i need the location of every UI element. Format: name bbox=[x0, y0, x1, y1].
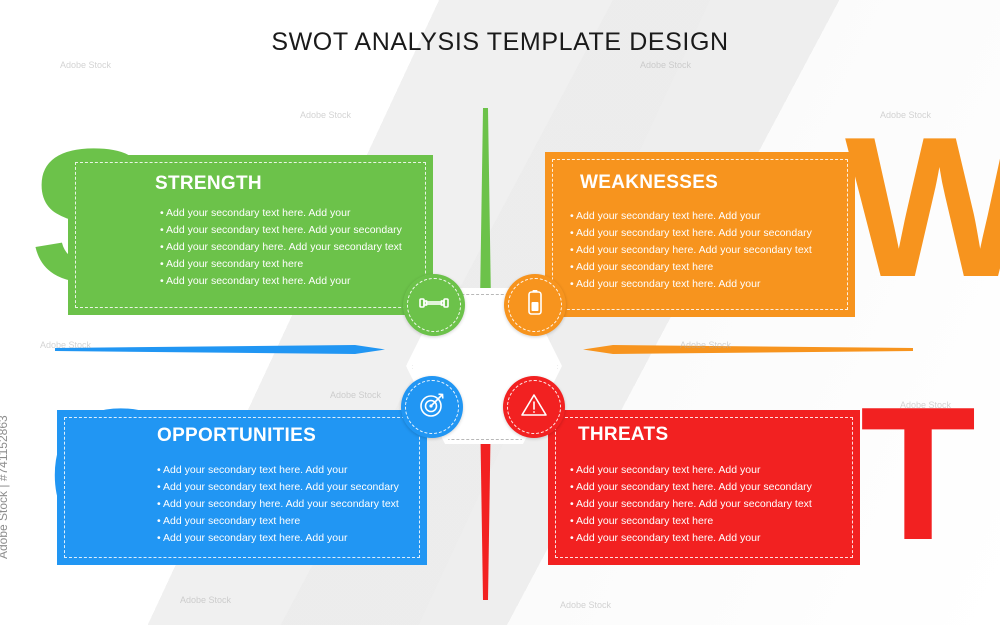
panel-opportunities-heading: OPPORTUNITIES bbox=[157, 425, 316, 447]
icon-circle-opportunities[interactable] bbox=[401, 376, 463, 438]
watermark-tile: Adobe Stock bbox=[300, 110, 351, 120]
panel-weaknesses-heading: WEAKNESSES bbox=[580, 172, 718, 194]
list-item: Add your secondary here. Add your second… bbox=[157, 496, 399, 513]
watermark-tile: Adobe Stock bbox=[180, 595, 231, 605]
panel-opportunities-bullets: Add your secondary text here. Add your A… bbox=[157, 462, 399, 547]
watermark-tile: Adobe Stock bbox=[60, 60, 111, 70]
panel-weaknesses-bullets: Add your secondary text here. Add your A… bbox=[570, 208, 812, 293]
list-item: Add your secondary text here. Add your bbox=[570, 530, 812, 547]
list-item: Add your secondary text here. Add your bbox=[160, 273, 402, 290]
list-item: Add your secondary text here. Add your bbox=[570, 276, 812, 293]
watermark-vertical: Adobe Stock | #741152863 bbox=[0, 415, 10, 559]
icon-circle-threats[interactable] bbox=[503, 376, 565, 438]
panel-weaknesses[interactable]: WEAKNESSES Add your secondary text here.… bbox=[545, 152, 855, 317]
list-item: Add your secondary text here. Add your s… bbox=[157, 479, 399, 496]
icon-circle-strength[interactable] bbox=[403, 274, 465, 336]
list-item: Add your secondary text here bbox=[570, 259, 812, 276]
watermark-tile: Adobe Stock bbox=[330, 390, 381, 400]
panel-strength-heading: STRENGTH bbox=[155, 173, 262, 195]
watermark-tile: Adobe Stock bbox=[640, 60, 691, 70]
panel-strength-bullets: Add your secondary text here. Add your A… bbox=[160, 205, 402, 290]
list-item: Add your secondary here. Add your second… bbox=[570, 496, 812, 513]
list-item: Add your secondary text here bbox=[160, 256, 402, 273]
list-item: Add your secondary text here. Add your bbox=[570, 208, 812, 225]
arrow-left-blue bbox=[55, 345, 385, 354]
list-item: Add your secondary text here. Add your bbox=[157, 530, 399, 547]
list-item: Add your secondary here. Add your second… bbox=[570, 242, 812, 259]
panel-opportunities[interactable]: OPPORTUNITIES Add your secondary text he… bbox=[57, 410, 427, 565]
list-item: Add your secondary text here. Add your bbox=[157, 462, 399, 479]
arrow-right-orange bbox=[583, 345, 913, 354]
ghost-letter-t: T bbox=[860, 398, 976, 550]
panel-strength[interactable]: STRENGTH Add your secondary text here. A… bbox=[68, 155, 433, 315]
list-item: Add your secondary text here. Add your bbox=[160, 205, 402, 222]
icon-circle-weaknesses[interactable] bbox=[504, 274, 566, 336]
watermark-tile: Adobe Stock bbox=[560, 600, 611, 610]
poster-canvas: SWOT ANALYSIS TEMPLATE DESIGN S W O T ST… bbox=[0, 0, 1000, 625]
list-item: Add your secondary text here bbox=[157, 513, 399, 530]
list-item: Add your secondary text here. Add your s… bbox=[570, 225, 812, 242]
list-item: Add your secondary text here. Add your s… bbox=[160, 222, 402, 239]
panel-threats-bullets: Add your secondary text here. Add your A… bbox=[570, 462, 812, 547]
ghost-letter-w: W bbox=[845, 128, 1000, 288]
panel-threats[interactable]: THREATS Add your secondary text here. Ad… bbox=[548, 410, 860, 565]
list-item: Add your secondary text here bbox=[570, 513, 812, 530]
page-title: SWOT ANALYSIS TEMPLATE DESIGN bbox=[0, 28, 1000, 57]
list-item: Add your secondary text here. Add your bbox=[570, 462, 812, 479]
list-item: Add your secondary here. Add your second… bbox=[160, 239, 402, 256]
list-item: Add your secondary text here. Add your s… bbox=[570, 479, 812, 496]
panel-threats-heading: THREATS bbox=[578, 424, 668, 446]
